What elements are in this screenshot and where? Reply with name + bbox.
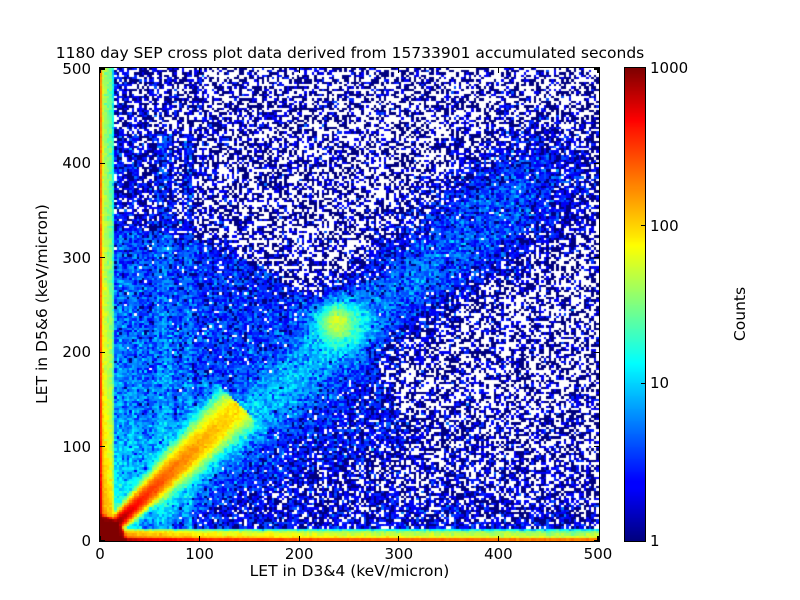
x-tick-mark-100 bbox=[199, 536, 200, 541]
y-tick-mark-right-100 bbox=[594, 446, 599, 447]
y-tick-mark-200 bbox=[100, 352, 105, 353]
colorbar-tick-label-1000: 1000 bbox=[650, 59, 688, 77]
figure-canvas: 1180 day SEP cross plot data derived fro… bbox=[0, 0, 800, 600]
colorbar-tick-label-100: 100 bbox=[650, 217, 679, 235]
colorbar-tick-mark-100 bbox=[641, 225, 645, 226]
x-tick-mark-top-100 bbox=[199, 68, 200, 73]
y-tick-mark-100 bbox=[100, 446, 105, 447]
x-tick-label-0: 0 bbox=[95, 545, 105, 563]
x-tick-label-500: 500 bbox=[584, 545, 613, 563]
x-axis-label: LET in D3&4 (keV/micron) bbox=[99, 562, 600, 580]
x-tick-mark-200 bbox=[299, 536, 300, 541]
y-tick-mark-right-0 bbox=[594, 540, 599, 541]
x-tick-label-200: 200 bbox=[285, 545, 314, 563]
x-tick-mark-top-400 bbox=[498, 68, 499, 73]
density-scatter-plot bbox=[100, 68, 599, 541]
y-tick-mark-400 bbox=[100, 163, 105, 164]
y-tick-mark-right-200 bbox=[594, 352, 599, 353]
x-tick-mark-300 bbox=[398, 536, 399, 541]
colorbar-tick-label-10: 10 bbox=[650, 374, 669, 392]
x-tick-label-100: 100 bbox=[185, 545, 214, 563]
y-tick-mark-300 bbox=[100, 257, 105, 258]
colorbar-label: Counts bbox=[731, 194, 749, 434]
y-tick-label-500: 500 bbox=[3, 60, 91, 78]
colorbar-tick-label-1: 1 bbox=[650, 532, 660, 550]
figure-title-line-1: 1180 day SEP cross plot data derived fro… bbox=[0, 44, 700, 63]
y-tick-mark-0 bbox=[100, 540, 105, 541]
y-tick-mark-right-500 bbox=[594, 68, 599, 69]
x-tick-label-300: 300 bbox=[384, 545, 413, 563]
x-tick-mark-top-200 bbox=[299, 68, 300, 73]
plot-area bbox=[99, 67, 600, 542]
y-axis-label: LET in D5&6 (keV/micron) bbox=[33, 154, 51, 454]
colorbar bbox=[624, 67, 646, 542]
y-tick-mark-right-400 bbox=[594, 163, 599, 164]
colorbar-gradient bbox=[625, 68, 645, 541]
x-tick-label-400: 400 bbox=[484, 545, 513, 563]
colorbar-tick-mark-10 bbox=[641, 383, 645, 384]
y-tick-mark-500 bbox=[100, 68, 105, 69]
y-tick-mark-right-300 bbox=[594, 257, 599, 258]
x-tick-mark-400 bbox=[498, 536, 499, 541]
x-tick-mark-top-300 bbox=[398, 68, 399, 73]
y-tick-label-0: 0 bbox=[3, 532, 91, 550]
